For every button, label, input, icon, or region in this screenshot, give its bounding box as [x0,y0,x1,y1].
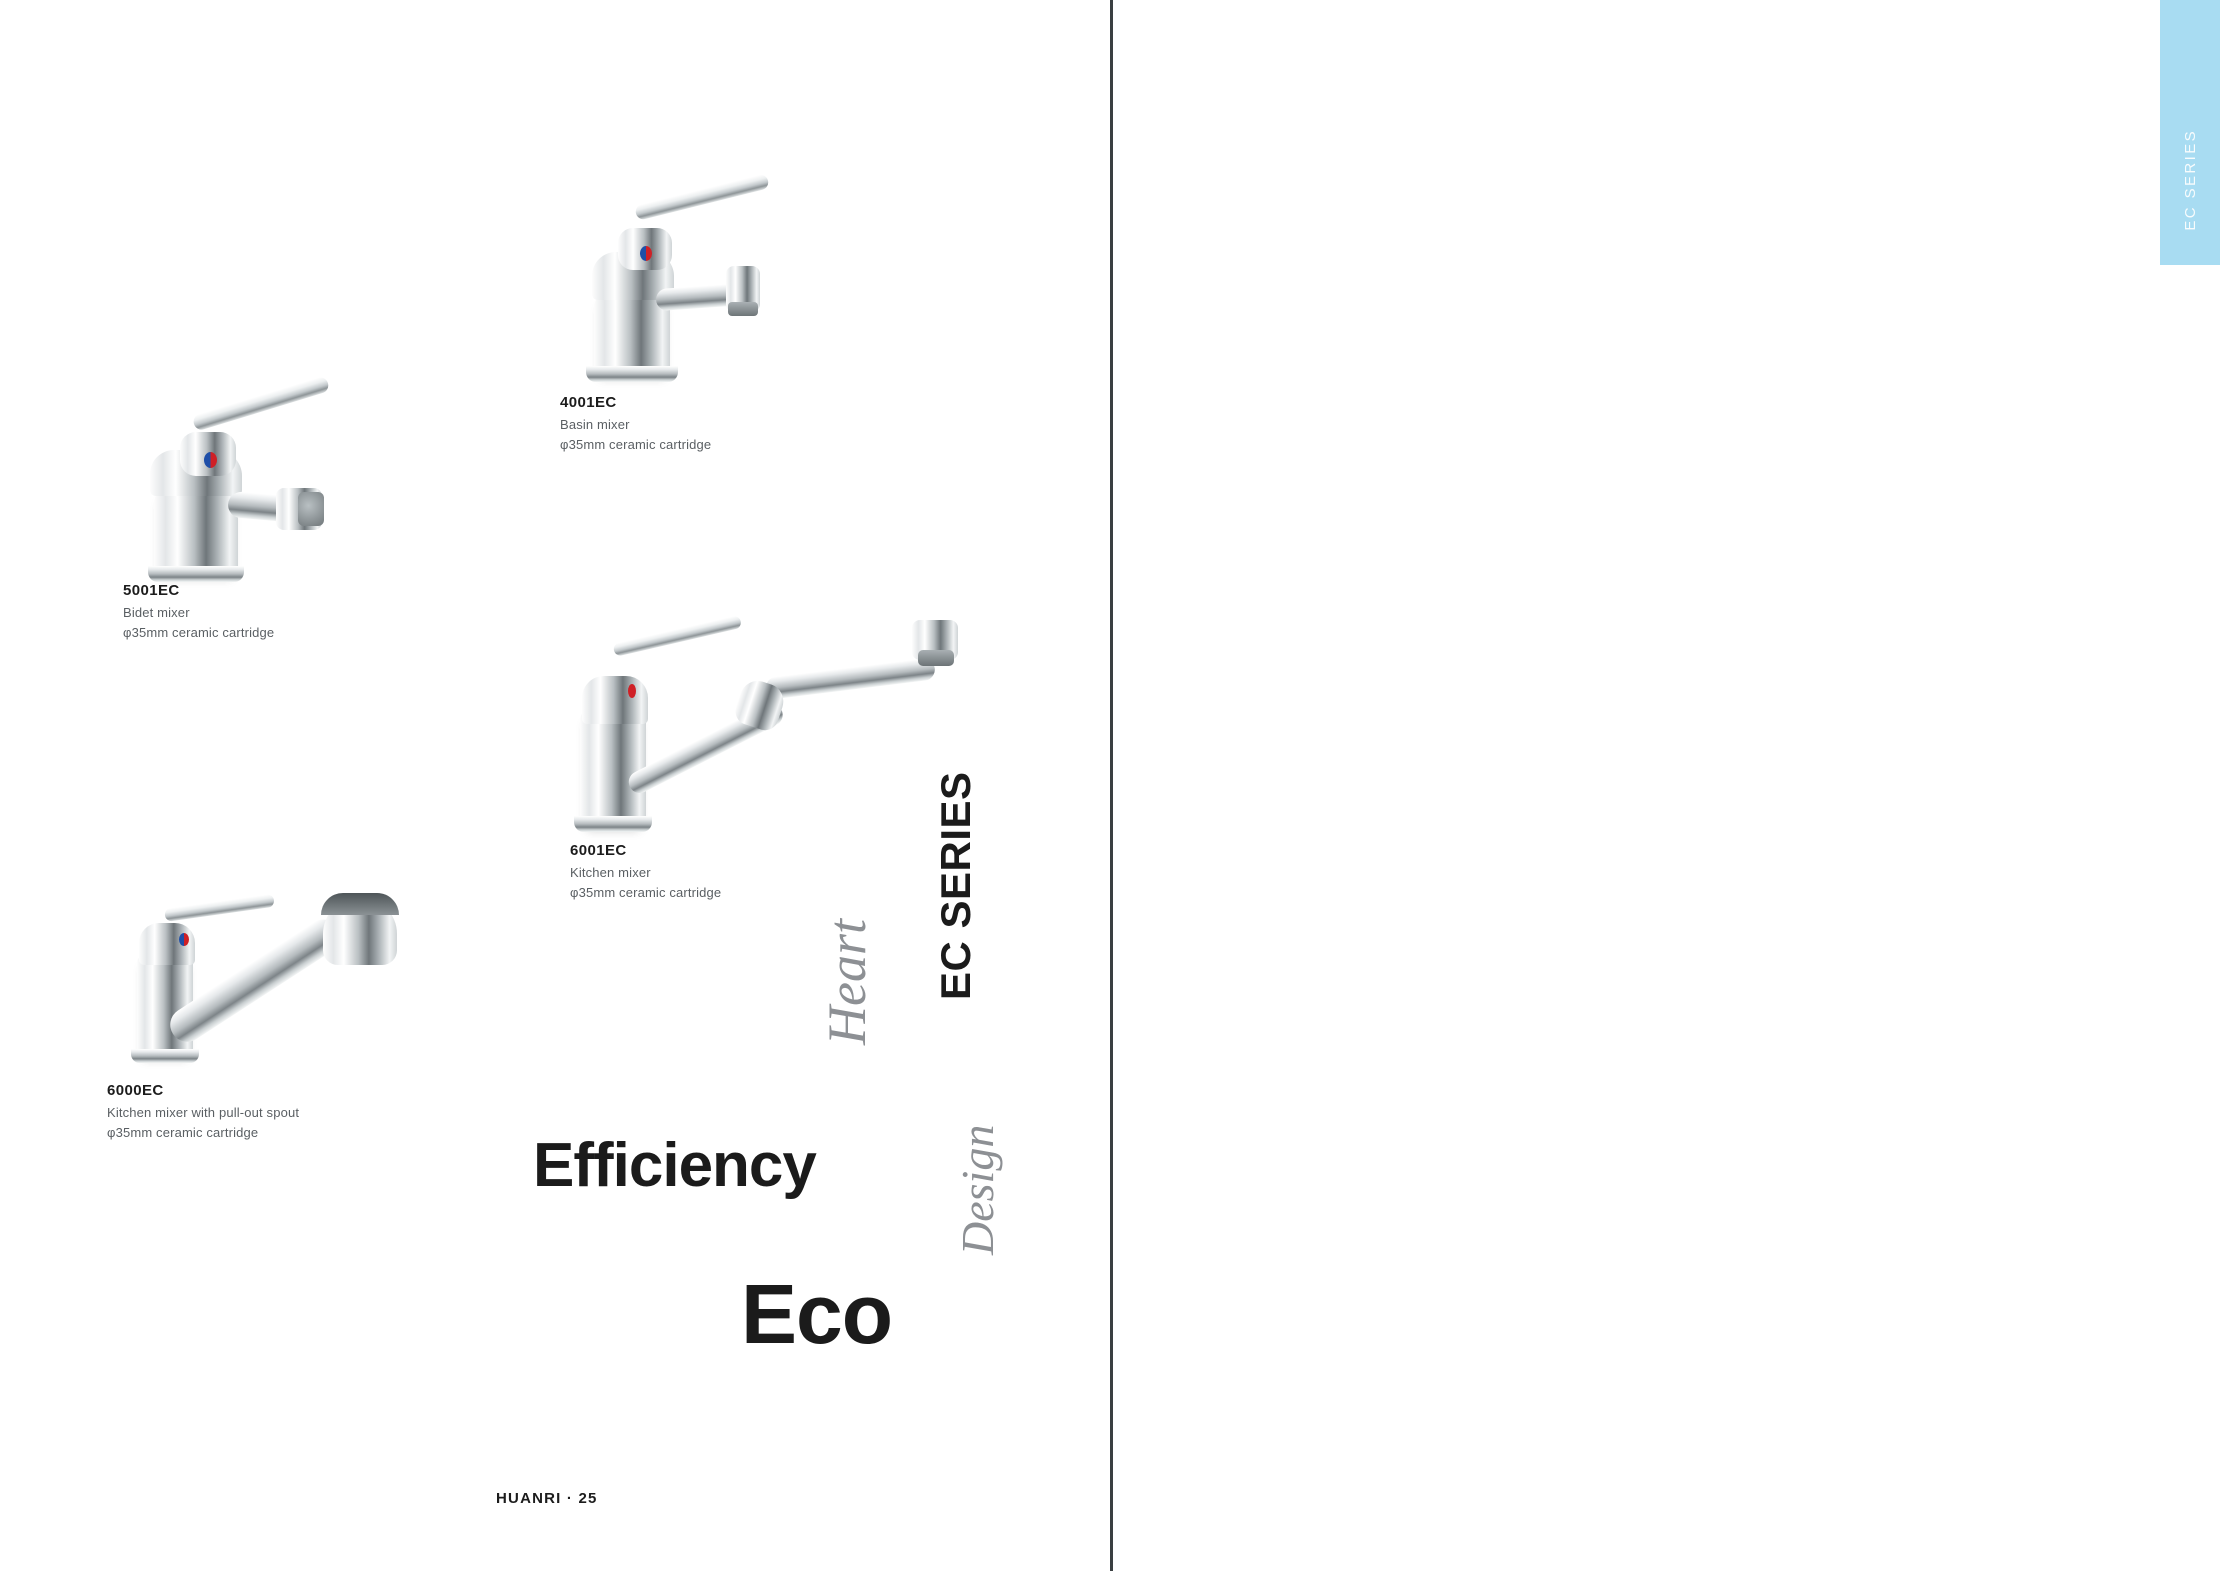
product-name: Basin mixer [560,415,711,435]
product-label-4001ec: 4001EC Basin mixer φ35mm ceramic cartrid… [560,392,711,455]
wordart-heart: Heart [820,919,874,1045]
product-spec: φ35mm ceramic cartridge [570,883,721,903]
product-name: Kitchen mixer [570,863,721,883]
product-code: 6001EC [570,840,721,863]
page-footer-left: HUANRI · 25 [496,1490,598,1507]
wordart-efficiency: Efficiency [533,1135,816,1197]
product-name: Kitchen mixer with pull-out spout [107,1103,299,1123]
side-tab-label: EC SERIES [2182,129,2199,231]
basin-mixer-faucet-icon [560,170,820,400]
catalog-spread: 5001EC Bidet mixer φ35mm ceramic cartrid… [0,0,2220,1571]
product-spec: φ35mm ceramic cartridge [123,623,274,643]
page-left: 5001EC Bidet mixer φ35mm ceramic cartrid… [0,0,1110,1571]
product-label-5001ec: 5001EC Bidet mixer φ35mm ceramic cartrid… [123,580,274,643]
product-name: Bidet mixer [123,603,274,623]
product-code: 6000EC [107,1080,299,1103]
page-right: 6002EC Wall-mounted kitchen mixer φ35mm … [1113,0,2220,1571]
pullout-kitchen-mixer-faucet-icon [115,875,415,1075]
kitchen-mixer-faucet-icon [570,600,970,850]
product-6001ec: 6001EC Kitchen mixer φ35mm ceramic cartr… [570,600,970,850]
product-code: 4001EC [560,392,711,415]
product-6000ec: 6000EC Kitchen mixer with pull-out spout… [115,875,415,1075]
wordart-design: Design [955,1125,1001,1255]
page-gutter-divider [1110,0,1113,1571]
product-5001ec: 5001EC Bidet mixer φ35mm ceramic cartrid… [120,390,420,580]
product-label-6000ec: 6000EC Kitchen mixer with pull-out spout… [107,1080,299,1143]
product-4001ec: 4001EC Basin mixer φ35mm ceramic cartrid… [560,170,820,400]
product-code: 5001EC [123,580,274,603]
product-label-6001ec: 6001EC Kitchen mixer φ35mm ceramic cartr… [570,840,721,903]
wordart-eco: Eco [741,1272,892,1356]
bidet-mixer-faucet-icon [120,390,420,580]
product-spec: φ35mm ceramic cartridge [107,1123,299,1143]
side-tab-ec-series[interactable]: EC SERIES [2160,0,2220,265]
product-spec: φ35mm ceramic cartridge [560,435,711,455]
